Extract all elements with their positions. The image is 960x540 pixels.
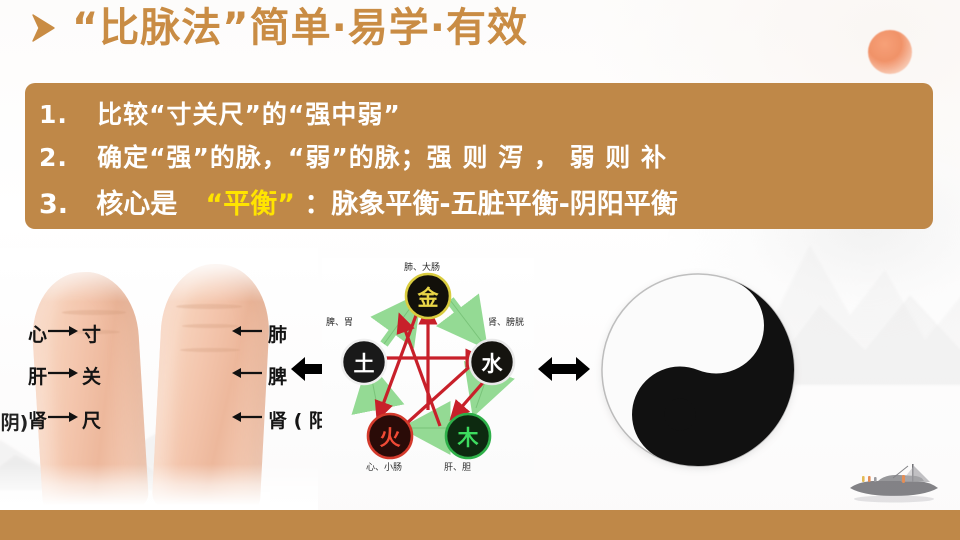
left-arm-position-2: 关 xyxy=(82,362,101,389)
yin-yang-symbol xyxy=(596,268,800,472)
key-point-1-text: 比较“寸关尺”的“强中弱” xyxy=(97,100,401,129)
ink-wash-boat-icon xyxy=(838,458,948,504)
left-arm-organ-1: 心 xyxy=(28,320,47,347)
left-arrow-3-icon xyxy=(48,410,80,424)
key-point-2-number: 2. xyxy=(39,143,68,172)
svg-text:金: 金 xyxy=(417,286,440,310)
left-arrow-2-icon xyxy=(48,366,80,380)
footer-bar xyxy=(0,510,960,540)
key-point-3: 3. 核心是 “平衡” ：脉象平衡-五脏平衡-阴阳平衡 xyxy=(25,180,933,230)
wrist-label-group: (阴) 心 寸 肝 关 肾 尺 肺 脾 肾 ( 阳 xyxy=(0,248,330,448)
five-elements-organ-fire: 心、小肠 xyxy=(366,460,402,473)
right-arm-organ-2: 脾 xyxy=(268,362,287,389)
slide-canvas: “比脉法”简单·易学·有效 1. 比较“寸关尺”的“强中弱” 2. 确定“强”的… xyxy=(0,0,960,540)
key-point-3-highlight: “平衡” xyxy=(205,189,295,220)
key-point-2-text: 确定“强”的脉，“弱”的脉；强 则 泻 ， 弱 则 补 xyxy=(97,143,667,172)
key-point-1-number: 1. xyxy=(39,100,68,129)
five-elements-graphic: 金 水 木 火 土 xyxy=(322,258,534,474)
key-point-3-prefix: 核心是 xyxy=(96,189,177,220)
page-title: “比脉法”简单·易学·有效 xyxy=(28,8,528,48)
left-arrow-1-icon xyxy=(48,324,80,338)
svg-text:水: 水 xyxy=(482,352,504,376)
key-point-1: 1. 比较“寸关尺”的“强中弱” xyxy=(25,93,933,136)
left-arm-organ-2: 肝 xyxy=(28,362,47,389)
svg-text:木: 木 xyxy=(457,426,480,450)
five-elements-organ-earth: 脾、胃 xyxy=(326,315,353,328)
right-arrow-1-icon xyxy=(230,324,262,338)
five-elements-diagram: 金 水 木 火 土 肺、大肠 肾、膀胱 肝、胆 心、小肠 脾、胃 xyxy=(322,258,534,474)
photo-bottom-fade xyxy=(0,464,318,510)
svg-text:火: 火 xyxy=(380,426,401,450)
five-elements-organ-wood: 肝、胆 xyxy=(444,460,471,473)
right-arrow-2-icon xyxy=(230,366,262,380)
triangle-right-icon xyxy=(28,11,58,45)
key-points-box: 1. 比较“寸关尺”的“强中弱” 2. 确定“强”的脉，“弱”的脉；强 则 泻 … xyxy=(25,83,933,229)
svg-text:土: 土 xyxy=(354,352,375,376)
page-title-text: “比脉法”简单·易学·有效 xyxy=(72,8,528,48)
key-point-3-number: 3. xyxy=(39,189,68,220)
five-elements-organ-water: 肾、膀胱 xyxy=(488,315,524,328)
left-arm-position-1: 寸 xyxy=(82,320,101,347)
five-elements-organ-metal: 肺、大肠 xyxy=(404,260,440,273)
right-arm-organ-1: 肺 xyxy=(268,320,287,347)
right-arm-organ-3: 肾 ( 阳 xyxy=(268,406,328,433)
left-arm-position-3: 尺 xyxy=(82,406,101,433)
key-point-2: 2. 确定“强”的脉，“弱”的脉；强 则 泻 ， 弱 则 补 xyxy=(25,136,933,180)
key-point-3-suffix: ：脉象平衡-五脏平衡-阴阳平衡 xyxy=(304,189,677,220)
left-arm-organ-3: 肾 xyxy=(28,406,47,433)
double-arrow-right-icon xyxy=(536,352,592,386)
right-arrow-3-icon xyxy=(230,410,262,424)
sun-circle-decor xyxy=(868,30,912,74)
left-arm-yin-note: (阴) xyxy=(0,408,28,435)
